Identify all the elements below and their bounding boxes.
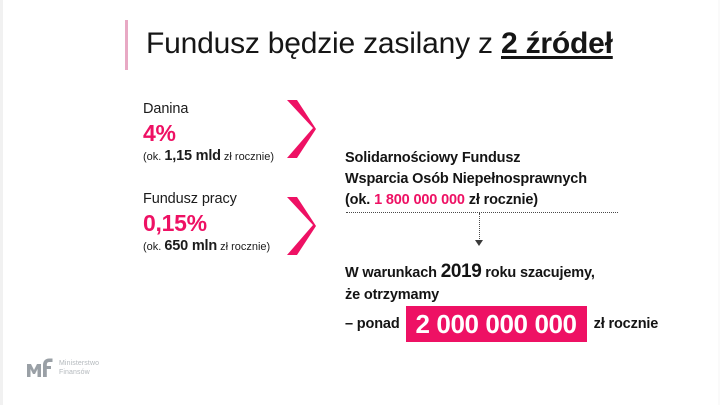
source-note-suffix: zł rocznie) — [221, 151, 274, 163]
estimate-line1-part1: W warunkach — [345, 265, 441, 281]
dotted-divider — [346, 212, 618, 213]
ministry-logo-line1: Ministerstwo — [59, 359, 99, 369]
arrow-head-icon — [475, 240, 483, 246]
ministry-logo-line2: Finansów — [59, 368, 99, 378]
total-suffix: zł rocznie — [587, 316, 659, 332]
source-note-prefix: (ok. — [143, 241, 164, 253]
source-note-amount: 650 mln — [164, 238, 217, 254]
title-text: Fundusz będzie zasilany z 2 źródeł — [146, 20, 613, 68]
title-lead: Fundusz będzie zasilany z — [146, 27, 501, 60]
chevron-right-icon — [283, 195, 317, 257]
fund-note-suffix: zł rocznie) — [465, 192, 538, 208]
estimate-line1-part2: roku szacujemy, — [481, 265, 594, 281]
estimate-block: W warunkach 2019 roku szacujemy, że otrz… — [345, 261, 595, 306]
down-arrow-dotted-icon — [479, 213, 480, 241]
title-emphasis: 2 źródeł — [501, 27, 613, 60]
source-note-suffix: zł rocznie) — [217, 241, 270, 253]
title-accent-bar — [125, 20, 128, 70]
estimate-line1: W warunkach 2019 roku szacujemy, — [345, 261, 595, 284]
total-amount-badge: 2 000 000 000 — [406, 306, 587, 342]
fund-note-amount: 1 800 000 000 — [374, 192, 465, 208]
fund-amount-line: (ok. 1 800 000 000 zł rocznie) — [345, 190, 587, 211]
total-amount-row: – ponad 2 000 000 000 zł rocznie — [345, 306, 658, 342]
source-note-amount: 1,15 mld — [164, 148, 220, 164]
fund-name-line2: Wsparcia Osób Niepełnosprawnych — [345, 169, 587, 190]
source-note-prefix: (ok. — [143, 151, 164, 163]
estimate-year: 2019 — [441, 261, 482, 282]
ministry-logo: Ministerstwo Finansów — [27, 358, 99, 378]
ministry-logo-text: Ministerstwo Finansów — [59, 359, 99, 378]
estimate-line2: że otrzymamy — [345, 284, 595, 306]
page-title: Fundusz będzie zasilany z 2 źródeł — [125, 20, 613, 70]
fund-name-line1: Solidarnościowy Fundusz — [345, 148, 587, 169]
mf-monogram-icon — [27, 358, 53, 378]
chevron-right-icon — [283, 98, 317, 160]
total-prefix: – ponad — [345, 316, 406, 332]
fund-note-prefix: (ok. — [345, 192, 374, 208]
fund-name-block: Solidarnościowy Fundusz Wsparcia Osób Ni… — [345, 148, 587, 211]
slide-canvas: Fundusz będzie zasilany z 2 źródeł Danin… — [0, 0, 720, 405]
